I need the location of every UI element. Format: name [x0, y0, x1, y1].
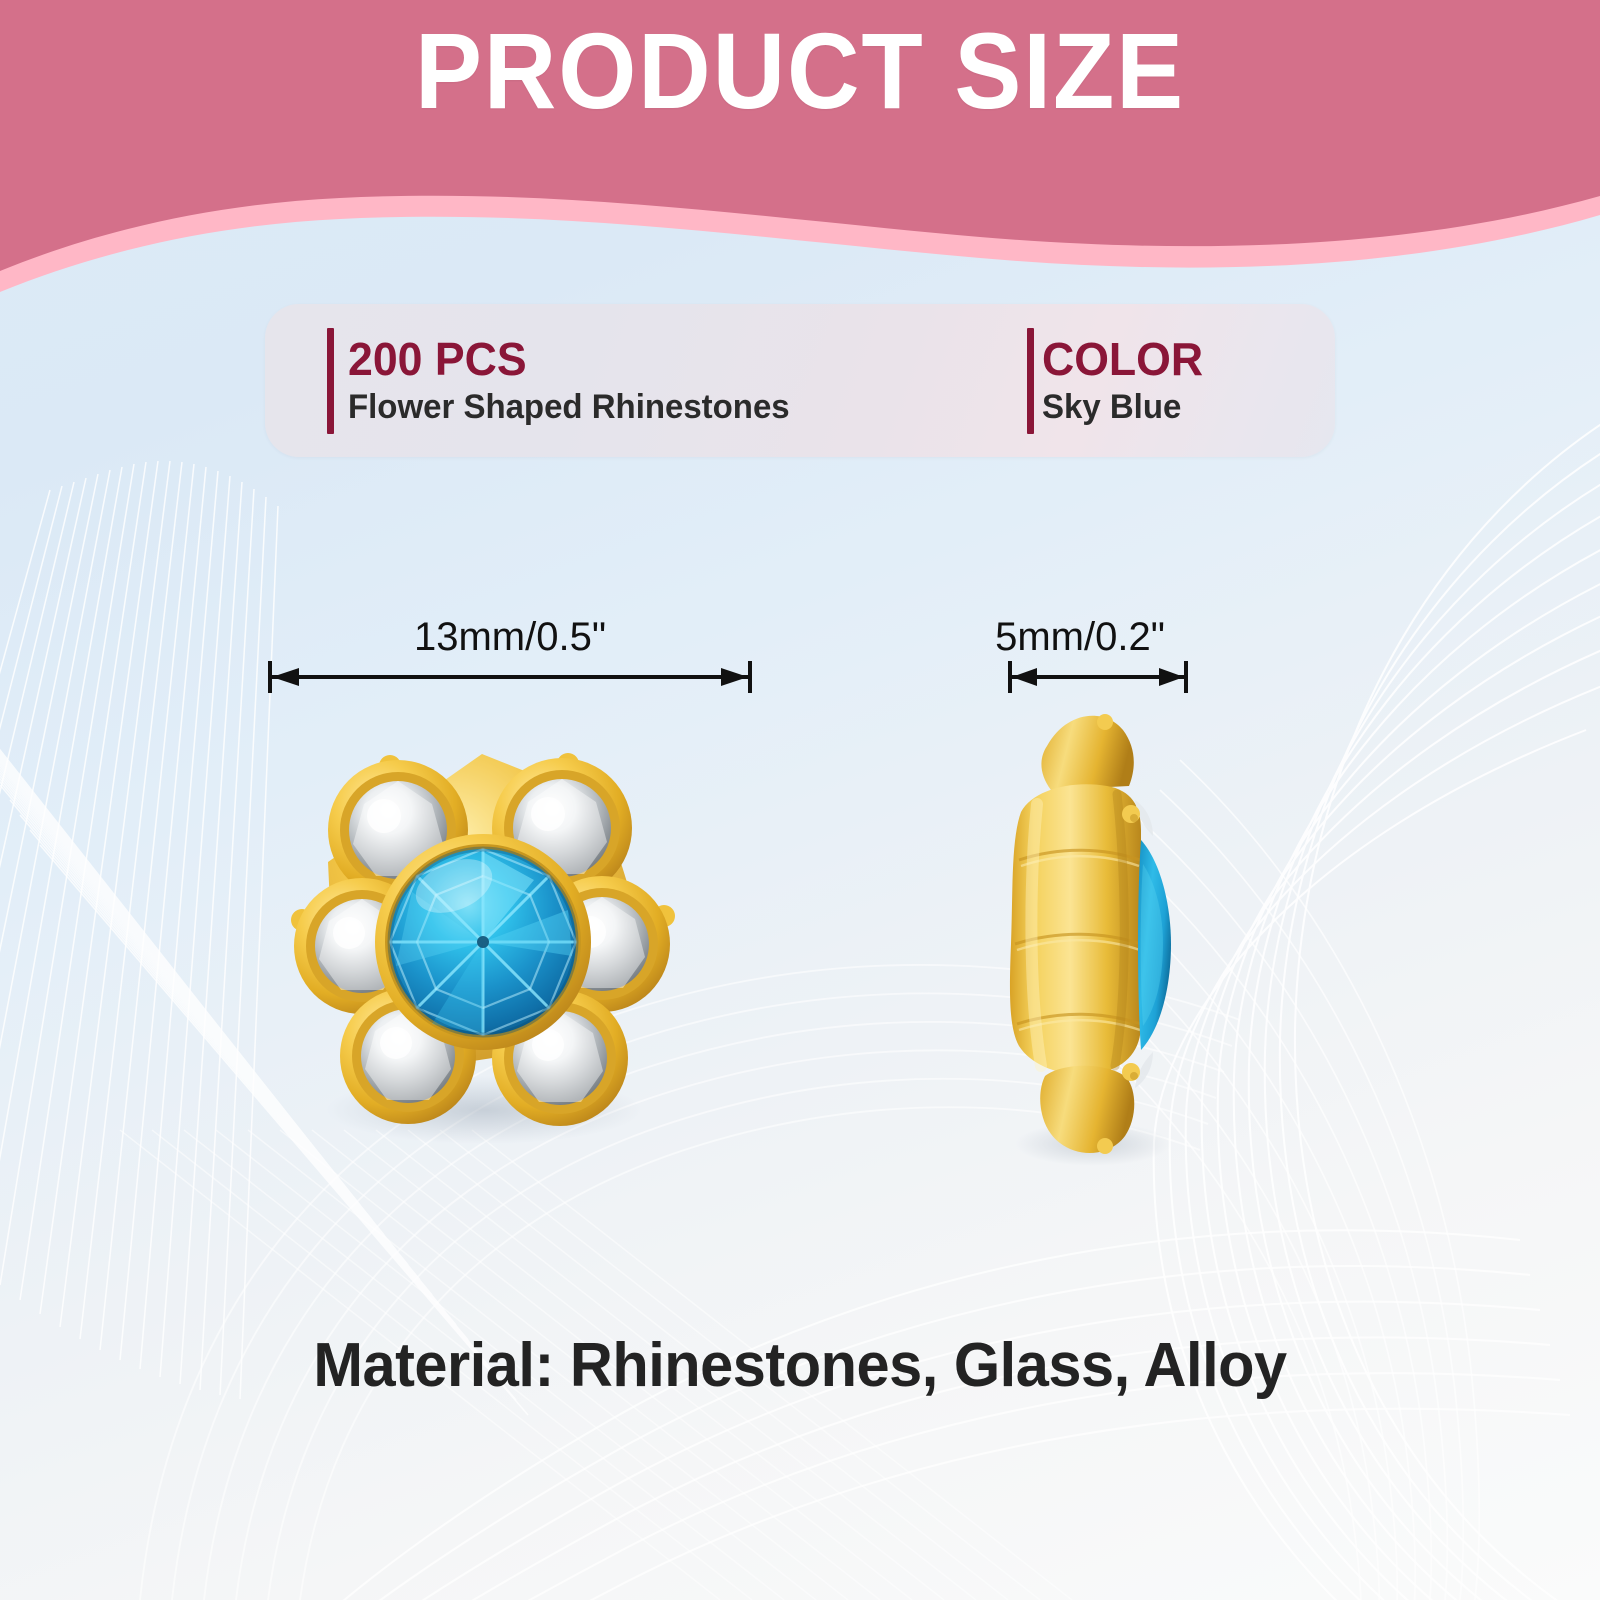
material-caption: Material: Rhinestones, Glass, Alloy	[32, 1328, 1568, 1404]
double-arrow-horizontal-icon	[255, 659, 765, 695]
vertical-rule-icon	[1027, 328, 1034, 434]
flower-rhinestone-front-view	[272, 694, 692, 1164]
flower-rhinestone-side-view	[985, 694, 1200, 1174]
page-title: PRODUCT SIZE	[56, 14, 1544, 127]
quantity-block: 200 PCS Flower Shaped Rhinestones	[327, 304, 803, 457]
header-band: PRODUCT SIZE	[0, 0, 1600, 300]
vertical-rule-icon	[327, 328, 334, 434]
dimension-front-label: 13mm/0.5"	[255, 615, 765, 659]
quantity-value: 200 PCS	[348, 333, 790, 385]
dimension-side-label: 5mm/0.2"	[960, 615, 1200, 659]
dimension-front-width: 13mm/0.5"	[255, 615, 765, 695]
color-value: Sky Blue	[1042, 385, 1203, 429]
dimension-side-depth: 5mm/0.2"	[960, 615, 1200, 695]
color-block: COLOR Sky Blue	[1027, 304, 1208, 457]
product-info-pill: 200 PCS Flower Shaped Rhinestones COLOR …	[265, 304, 1335, 457]
center-gem	[375, 834, 591, 1050]
quantity-description: Flower Shaped Rhinestones	[348, 385, 790, 429]
double-arrow-horizontal-icon	[960, 659, 1200, 695]
infographic-canvas: PRODUCT SIZE 200 PCS Flower Shaped Rhine…	[0, 0, 1600, 1600]
color-label: COLOR	[1042, 333, 1203, 385]
